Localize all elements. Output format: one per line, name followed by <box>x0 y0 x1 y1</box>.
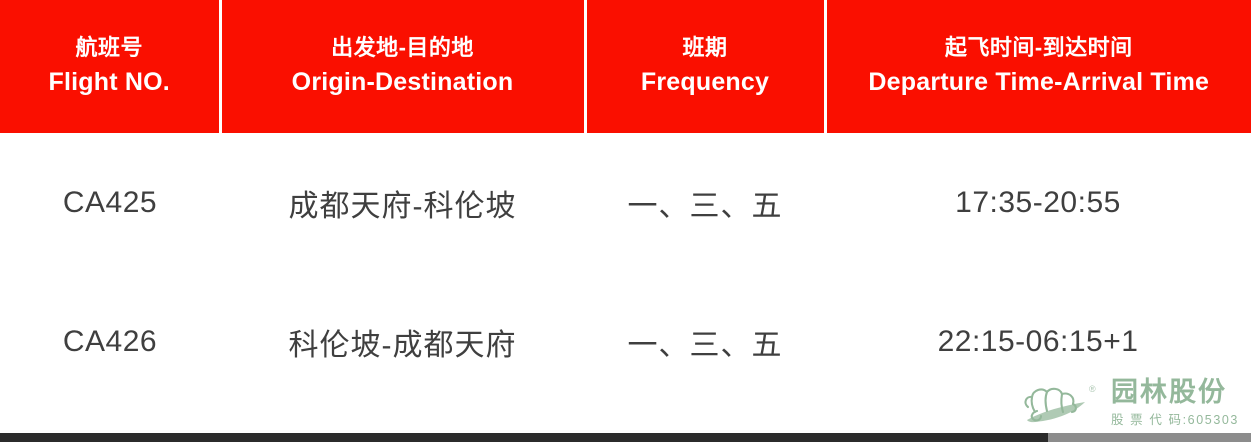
column-header-flight-no-en: Flight NO. <box>6 66 213 99</box>
tree-cloud-logo-icon: ® <box>1017 379 1103 427</box>
cell-flight-no: CA426 <box>0 272 220 411</box>
flight-schedule-table: 航班号 Flight NO. 出发地-目的地 Origin-Destinatio… <box>0 0 1251 411</box>
table-row: CA425 成都天府-科伦坡 一、三、五 17:35-20:55 <box>0 133 1251 272</box>
column-header-flight-no-cn: 航班号 <box>6 34 213 63</box>
column-header-departure-arrival-time-cn: 起飞时间-到达时间 <box>833 34 1246 63</box>
progress-bar-fill[interactable] <box>0 433 1048 442</box>
table-body: CA425 成都天府-科伦坡 一、三、五 17:35-20:55 CA426 科… <box>0 133 1251 411</box>
column-header-frequency-en: Frequency <box>593 66 818 99</box>
column-header-departure-arrival-time-en: Departure Time-Arrival Time <box>833 66 1246 99</box>
column-header-frequency: 班期 Frequency <box>585 0 825 133</box>
cell-route: 科伦坡-成都天府 <box>220 272 585 411</box>
column-header-origin-destination-en: Origin-Destination <box>228 66 578 99</box>
column-header-origin-destination-cn: 出发地-目的地 <box>228 34 578 63</box>
column-header-departure-arrival-time: 起飞时间-到达时间 Departure Time-Arrival Time <box>825 0 1251 133</box>
watermark-stock-code: 股 票 代 码:605303 <box>1111 409 1239 428</box>
column-header-origin-destination: 出发地-目的地 Origin-Destination <box>220 0 585 133</box>
table-header: 航班号 Flight NO. 出发地-目的地 Origin-Destinatio… <box>0 0 1251 133</box>
column-header-flight-no: 航班号 Flight NO. <box>0 0 220 133</box>
column-header-frequency-cn: 班期 <box>593 34 818 63</box>
watermark: ® 园林股份 股 票 代 码:605303 <box>1017 378 1239 428</box>
cell-times: 17:35-20:55 <box>825 133 1251 272</box>
cell-route: 成都天府-科伦坡 <box>220 133 585 272</box>
progress-bar-track[interactable] <box>0 433 1251 442</box>
watermark-text: 园林股份 股 票 代 码:605303 <box>1111 378 1239 428</box>
table-header-row: 航班号 Flight NO. 出发地-目的地 Origin-Destinatio… <box>0 0 1251 133</box>
cell-frequency: 一、三、五 <box>585 272 825 411</box>
flight-schedule-page: 航班号 Flight NO. 出发地-目的地 Origin-Destinatio… <box>0 0 1251 442</box>
cell-frequency: 一、三、五 <box>585 133 825 272</box>
registered-trademark-icon: ® <box>1089 384 1096 394</box>
cell-flight-no: CA425 <box>0 133 220 272</box>
watermark-company-name: 园林股份 <box>1111 378 1239 406</box>
